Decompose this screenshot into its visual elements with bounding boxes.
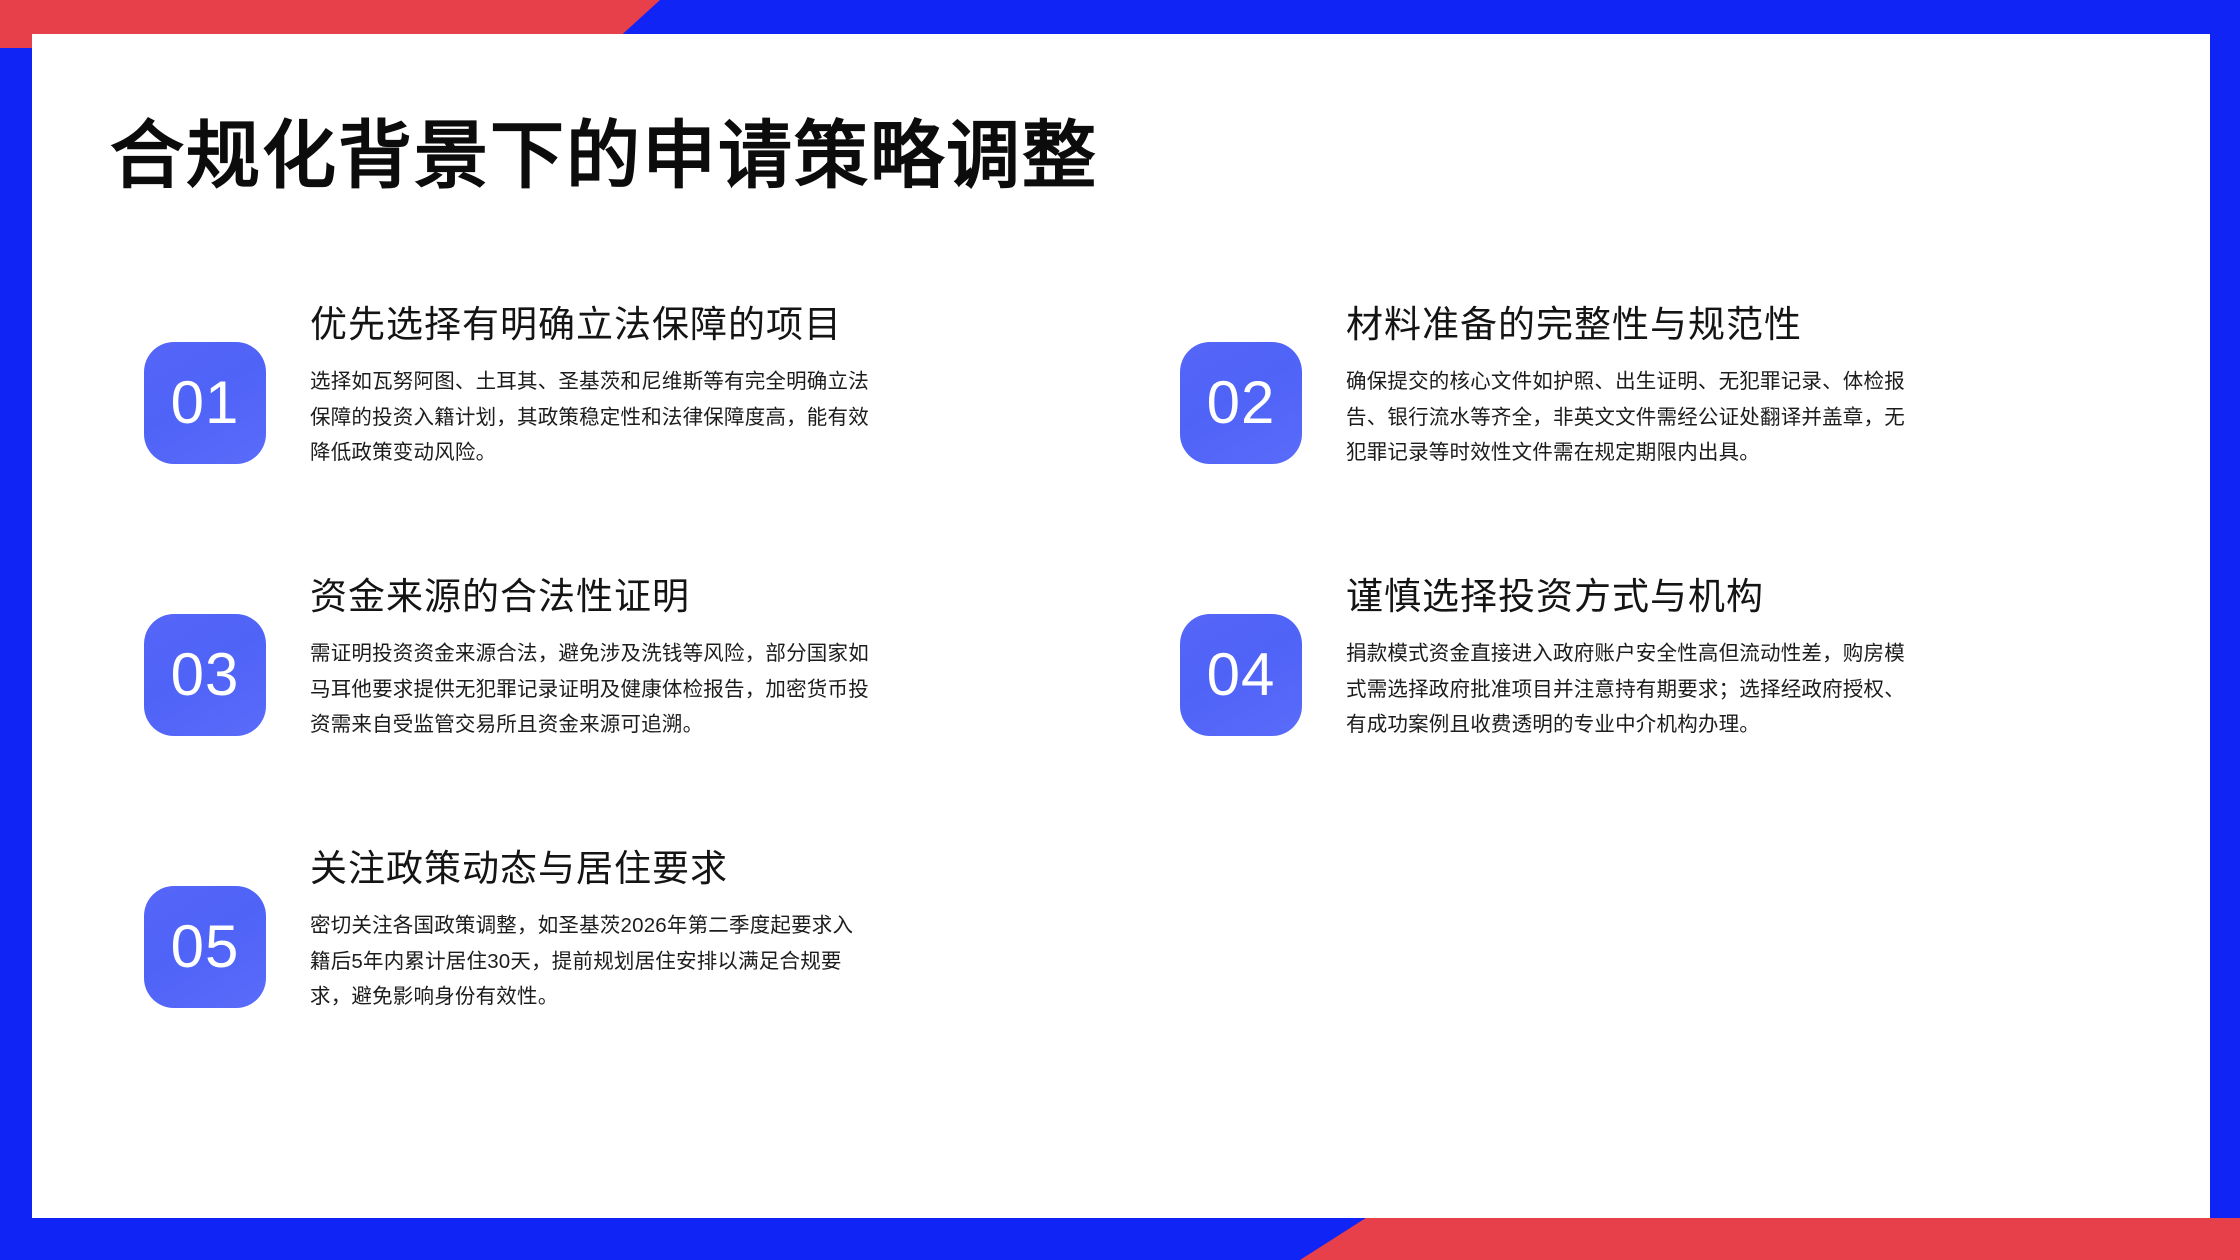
item-text-block: 谨慎选择投资方式与机构 捐款模式资金直接进入政府账户安全性高但流动性差，购房模式… xyxy=(1346,574,1906,742)
list-item[interactable]: 04 谨慎选择投资方式与机构 捐款模式资金直接进入政府账户安全性高但流动性差，购… xyxy=(1180,574,1906,742)
item-description: 捐款模式资金直接进入政府账户安全性高但流动性差，购房模式需选择政府批准项目并注意… xyxy=(1346,636,1906,742)
item-number-label: 03 xyxy=(171,645,240,705)
item-number-badge: 02 xyxy=(1180,342,1302,464)
item-text-block: 优先选择有明确立法保障的项目 选择如瓦努阿图、土耳其、圣基茨和尼维斯等有完全明确… xyxy=(310,302,870,470)
item-number-label: 02 xyxy=(1207,373,1276,433)
list-item[interactable]: 03 资金来源的合法性证明 需证明投资资金来源合法，避免涉及洗钱等风险，部分国家… xyxy=(144,574,870,742)
item-number-label: 01 xyxy=(171,373,240,433)
item-title: 关注政策动态与居住要求 xyxy=(310,846,870,892)
item-number-label: 04 xyxy=(1207,645,1276,705)
item-title: 资金来源的合法性证明 xyxy=(310,574,870,620)
bottom-right-red-accent-shape xyxy=(1300,1218,2240,1260)
item-description: 确保提交的核心文件如护照、出生证明、无犯罪记录、体检报告、银行流水等齐全，非英文… xyxy=(1346,364,1906,470)
item-number-badge: 05 xyxy=(144,886,266,1008)
page-title: 合规化背景下的申请策略调整 xyxy=(110,96,1098,203)
item-text-block: 材料准备的完整性与规范性 确保提交的核心文件如护照、出生证明、无犯罪记录、体检报… xyxy=(1346,302,1906,470)
item-text-block: 资金来源的合法性证明 需证明投资资金来源合法，避免涉及洗钱等风险，部分国家如马耳… xyxy=(310,574,870,742)
list-item[interactable]: 01 优先选择有明确立法保障的项目 选择如瓦努阿图、土耳其、圣基茨和尼维斯等有完… xyxy=(144,302,870,470)
item-description: 密切关注各国政策调整，如圣基茨2026年第二季度起要求入籍后5年内累计居住30天… xyxy=(310,908,870,1014)
item-number-badge: 01 xyxy=(144,342,266,464)
slide-canvas: 合规化背景下的申请策略调整 01 优先选择有明确立法保障的项目 选择如瓦努阿图、… xyxy=(32,34,2210,1218)
item-number-badge: 03 xyxy=(144,614,266,736)
item-number-label: 05 xyxy=(171,917,240,977)
list-item[interactable]: 02 材料准备的完整性与规范性 确保提交的核心文件如护照、出生证明、无犯罪记录、… xyxy=(1180,302,1906,470)
item-title: 谨慎选择投资方式与机构 xyxy=(1346,574,1906,620)
item-title: 优先选择有明确立法保障的项目 xyxy=(310,302,870,348)
list-item[interactable]: 05 关注政策动态与居住要求 密切关注各国政策调整，如圣基茨2026年第二季度起… xyxy=(144,846,870,1014)
item-number-badge: 04 xyxy=(1180,614,1302,736)
item-description: 需证明投资资金来源合法，避免涉及洗钱等风险，部分国家如马耳他要求提供无犯罪记录证… xyxy=(310,636,870,742)
item-description: 选择如瓦努阿图、土耳其、圣基茨和尼维斯等有完全明确立法保障的投资入籍计划，其政策… xyxy=(310,364,870,470)
item-text-block: 关注政策动态与居住要求 密切关注各国政策调整，如圣基茨2026年第二季度起要求入… xyxy=(310,846,870,1014)
item-title: 材料准备的完整性与规范性 xyxy=(1346,302,1906,348)
